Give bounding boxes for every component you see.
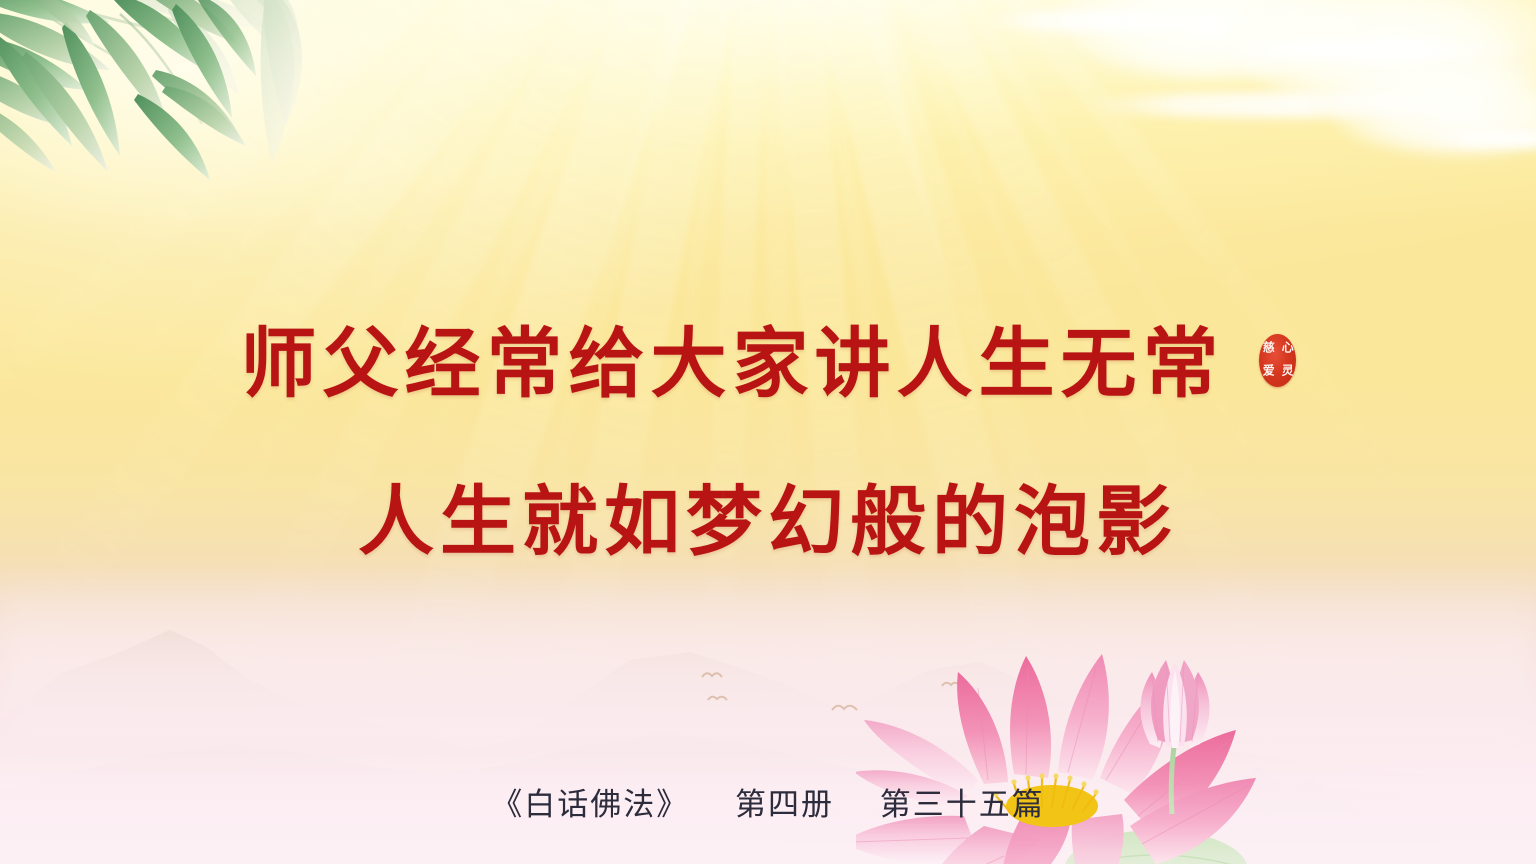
seal-stamp: 慈 心 爱 灵 (1259, 334, 1296, 387)
seal-char: 慈 (1262, 337, 1279, 359)
source-caption: 《白话佛法》 第四册 第三十五篇 (0, 779, 1536, 824)
caption-chapter: 第三十五篇 (880, 787, 1045, 823)
bird-icon (706, 692, 732, 705)
verse-line-1-text: 师父经常给大家讲人生无常 (241, 326, 1225, 402)
seal-char: 心 (1281, 337, 1295, 359)
seal-char: 灵 (1281, 361, 1295, 383)
bamboo-leaves (0, 0, 490, 234)
cloud-icon (1080, 92, 1480, 118)
seal-char: 爱 (1262, 361, 1279, 383)
lotus-flowers (856, 648, 1416, 864)
cloud-icon (1210, 40, 1536, 60)
bird-icon (700, 668, 730, 682)
verse-line-1: 师父经常给大家讲人生无常 慈 心 爱 灵 (0, 326, 1536, 402)
caption-volume: 第四册 (735, 787, 834, 823)
caption-book-title: 《白话佛法》 (491, 787, 689, 823)
poster-canvas: 师父经常给大家讲人生无常 慈 心 爱 灵 人生就如梦幻般的泡影 《白话佛法》 第… (0, 0, 1536, 864)
verse-line-2: 人生就如梦幻般的泡影 (0, 484, 1536, 560)
cloud-icon (980, 10, 1230, 32)
verse-line-2-text: 人生就如梦幻般的泡影 (358, 477, 1178, 566)
